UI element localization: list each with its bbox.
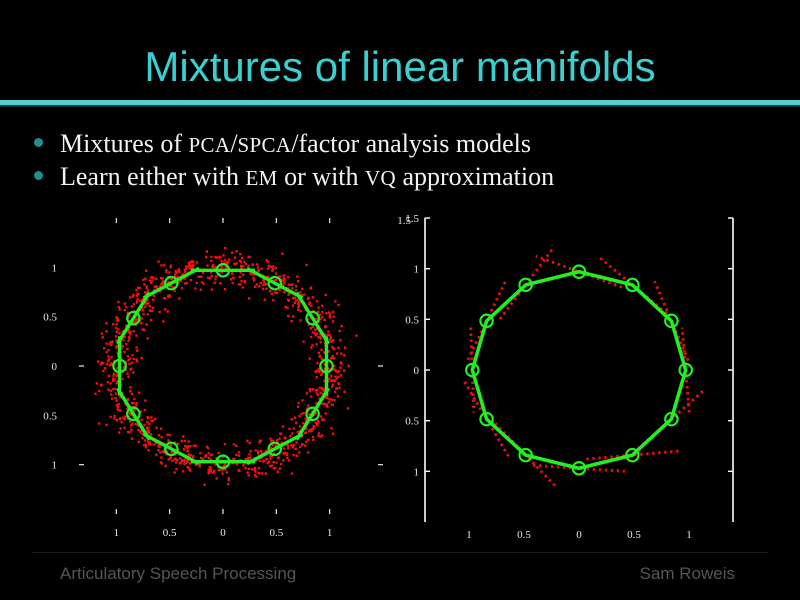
x-tick-label: 0.5 [517, 529, 531, 541]
scatter-points [94, 247, 357, 486]
y-tick-labels: 10.500.511.5 [405, 213, 419, 478]
bullet-dot-icon [34, 138, 43, 147]
x-tick-label: 1 [327, 527, 333, 539]
y-tick-label: 1.5 [405, 213, 419, 225]
bullet-seg: /factor analysis models [291, 129, 531, 158]
bullet-list: Mixtures of PCA/SPCA/factor analysis mod… [34, 129, 774, 195]
bullet-seg: Mixtures of [60, 129, 189, 158]
bullet-seg-smallcaps: VQ [365, 166, 396, 190]
y-tick-label: 0.5 [43, 410, 57, 422]
page-title: Mixtures of linear manifolds [0, 44, 800, 90]
bullet-dot-icon [34, 171, 43, 180]
x-tick-label: 0.5 [163, 527, 177, 539]
axis-ticks [79, 218, 383, 514]
slide-footer: Articulatory Speech Processing Sam Rowei… [0, 552, 800, 600]
footer-divider [32, 552, 768, 553]
bullet-seg: or with [278, 162, 365, 191]
y-tick-label: 0 [52, 361, 58, 373]
local-linear-models [113, 264, 332, 468]
footer-right-text: Sam Roweis [640, 564, 735, 584]
y-tick-label: 0 [414, 365, 420, 377]
bullet-seg-smallcaps: EM [246, 166, 278, 190]
bullet-seg-smallcaps: SPCA [238, 133, 292, 157]
x-tick-label: 0 [220, 527, 226, 539]
y-tick-labels: 10.500.51 [43, 262, 57, 471]
bullet-text-2: Learn either with EM or with VQ approxim… [60, 162, 554, 193]
footer-left-text: Articulatory Speech Processing [60, 564, 296, 584]
x-tick-label: 0 [576, 529, 582, 541]
bullet-seg: approximation [396, 162, 554, 191]
y-tick-label: 1 [52, 262, 58, 274]
chart-left-mixture-scatter: 10.500.5110.500.511.5 [35, 206, 415, 551]
x-tick-labels: 10.500.51 [466, 529, 692, 541]
principal-directions [465, 250, 705, 487]
list-item: Mixtures of PCA/SPCA/factor analysis mod… [34, 129, 774, 162]
y-tick-label: 0.5 [405, 314, 419, 326]
x-tick-label: 1 [114, 527, 120, 539]
bullet-seg: / [230, 129, 237, 158]
slide-canvas: Mixtures of linear manifolds Mixtures of… [0, 0, 800, 600]
list-item: Learn either with EM or with VQ approxim… [34, 162, 774, 195]
title-divider-shadow [0, 105, 800, 107]
y-tick-label: 1 [414, 264, 420, 276]
x-tick-label: 1 [686, 529, 692, 541]
y-tick-label: 1 [414, 466, 420, 478]
manifold-polygon [466, 266, 692, 475]
y-tick-label: 1 [52, 460, 58, 472]
y-tick-label: 0.5 [43, 312, 57, 324]
bullet-text-1: Mixtures of PCA/SPCA/factor analysis mod… [60, 129, 531, 160]
bullet-seg-smallcaps: PCA [189, 133, 231, 157]
x-tick-label: 0.5 [627, 529, 641, 541]
x-tick-label: 0.5 [269, 527, 283, 539]
x-tick-label: 1 [466, 529, 472, 541]
figure-area: 10.500.5110.500.511.5 10.500.511.510.500… [0, 206, 800, 551]
axis-ticks [425, 218, 733, 471]
x-tick-labels: 10.500.51 [114, 527, 333, 539]
bullet-seg: Learn either with [60, 162, 246, 191]
chart-right-mixture-polygon: 10.500.511.510.500.51 [395, 206, 745, 551]
y-tick-label: 0.5 [405, 416, 419, 428]
